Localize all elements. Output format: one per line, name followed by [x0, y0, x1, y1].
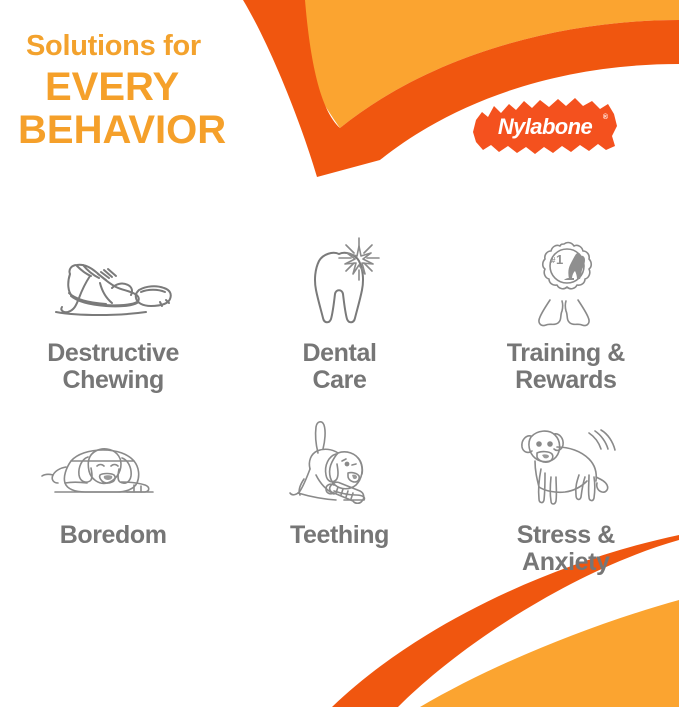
category-label-teething: Teething — [290, 522, 389, 549]
logo-brand-name: Nylabone — [498, 114, 592, 140]
category-item-teething: Teething — [226, 418, 452, 578]
category-item-stress-anxiety: Stress & Anxiety — [453, 418, 679, 578]
chewed-shoe-icon — [38, 236, 188, 332]
category-label-training-rewards: Training & Rewards — [507, 340, 625, 393]
nylabone-logo: Nylabone ® — [470, 92, 620, 160]
lying-down-dog-icon — [33, 418, 193, 514]
bottom-swoosh-light-shape — [420, 600, 679, 707]
headline-line-1: Solutions for — [26, 32, 226, 61]
category-row-bottom: Boredom — [0, 418, 679, 578]
puppy-chewing-bone-icon — [274, 418, 404, 514]
product-infographic-banner: Solutions for EVERY BEHAVIOR Nylabone ® — [0, 0, 679, 707]
sparkling-tooth-icon — [279, 236, 399, 332]
headline-line-2: EVERY — [45, 67, 226, 107]
category-row-top: Destructive Chewing — [0, 236, 679, 418]
award-rosette-dog-icon: # 1 — [506, 236, 626, 332]
category-label-dental-care: Dental Care — [302, 340, 376, 393]
category-label-destructive-chewing: Destructive Chewing — [47, 340, 179, 393]
headline-line-3: BEHAVIOR — [18, 110, 226, 150]
category-item-dental-care: Dental Care — [226, 236, 452, 418]
registered-trademark-icon: ® — [603, 114, 608, 121]
category-label-stress-anxiety: Stress & Anxiety — [517, 522, 615, 575]
category-item-boredom: Boredom — [0, 418, 226, 578]
logo-wordmark: Nylabone — [470, 92, 620, 160]
svg-text:1: 1 — [556, 252, 563, 267]
category-item-destructive-chewing: Destructive Chewing — [0, 236, 226, 418]
category-label-boredom: Boredom — [60, 522, 167, 549]
headline-block: Solutions for EVERY BEHAVIOR — [26, 32, 226, 150]
category-item-training-rewards: # 1 Training & Rewards — [453, 236, 679, 418]
anxious-dog-icon — [501, 418, 631, 514]
category-grid: Destructive Chewing — [0, 236, 679, 578]
